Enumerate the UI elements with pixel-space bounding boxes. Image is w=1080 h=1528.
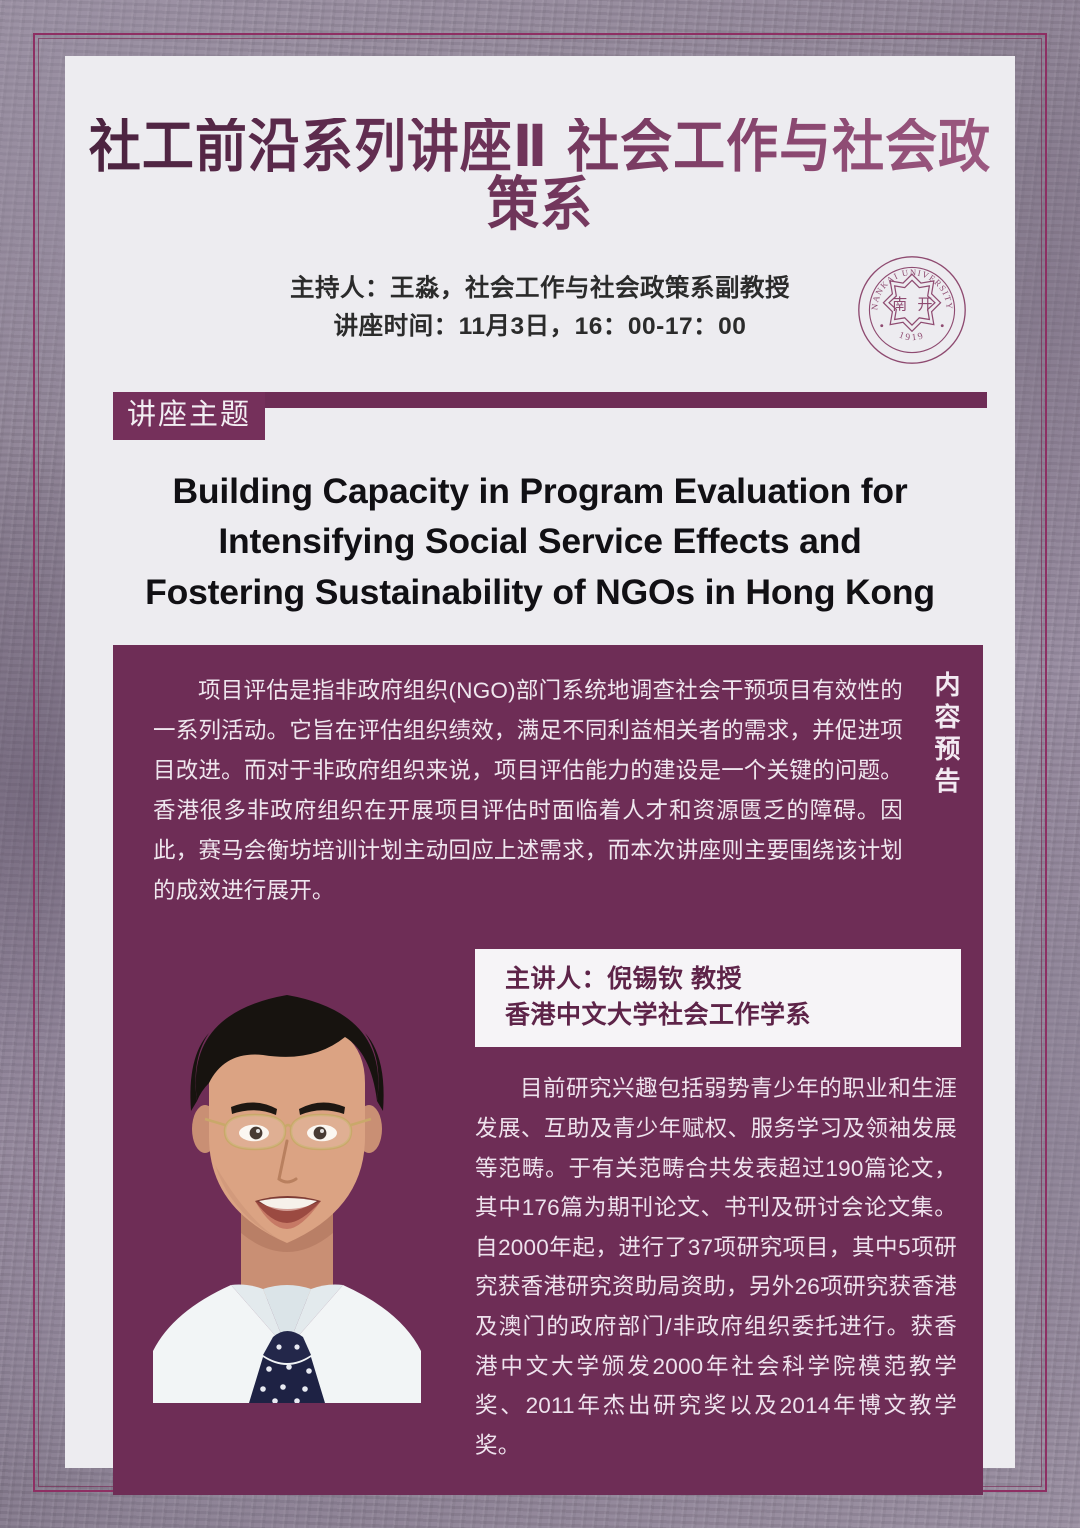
speaker-name-card: 主讲人：倪锡钦 教授 香港中文大学社会工作学系	[475, 949, 961, 1047]
time-line: 讲座时间：11月3日，16：00-17：00	[105, 308, 975, 346]
abstract-panel: 项目评估是指非政府组织(NGO)部门系统地调查社会干预项目有效性的一系列活动。它…	[113, 645, 983, 933]
lecture-title-line-3: Fostering Sustainability of NGOs in Hong…	[99, 567, 981, 617]
speaker-portrait-image	[113, 933, 461, 1403]
abstract-body: 项目评估是指非政府组织(NGO)部门系统地调查社会干预项目有效性的一系列活动。它…	[113, 671, 921, 911]
topic-section-header: 讲座主题	[113, 392, 987, 442]
page-title: 社工前沿系列讲座Ⅱ 社会工作与社会政策系	[65, 118, 1015, 234]
seal-year-text: 1919	[897, 331, 926, 344]
topic-tab-label: 讲座主题	[113, 392, 265, 440]
speaker-name: 主讲人：倪锡钦 教授	[505, 962, 961, 998]
seal-emblem-char-kai: 开	[917, 295, 932, 313]
speaker-affiliation: 香港中文大学社会工作学系	[505, 998, 961, 1034]
speaker-details: 主讲人：倪锡钦 教授 香港中文大学社会工作学系 目前研究兴趣包括弱势青少年的职业…	[461, 933, 983, 1465]
lecture-title: Building Capacity in Program Evaluation …	[99, 466, 981, 617]
meta-block: 主持人：王淼，社会工作与社会政策系副教授 讲座时间：11月3日，16：00-17…	[65, 270, 1015, 346]
lecture-title-line-1: Building Capacity in Program Evaluation …	[99, 466, 981, 516]
abstract-side-label: 内容预告	[921, 671, 983, 911]
speaker-panel: 主讲人：倪锡钦 教授 香港中文大学社会工作学系 目前研究兴趣包括弱势青少年的职业…	[113, 933, 983, 1495]
poster-root: 社工前沿系列讲座Ⅱ 社会工作与社会政策系 主持人：王淼，社会工作与社会政策系副教…	[0, 0, 1080, 1528]
host-line: 主持人：王淼，社会工作与社会政策系副教授	[105, 270, 975, 308]
meta-lines: 主持人：王淼，社会工作与社会政策系副教授 讲座时间：11月3日，16：00-17…	[105, 270, 975, 346]
seal-emblem-char-nan: 南	[892, 295, 907, 313]
speaker-photo	[113, 933, 461, 1465]
content-card: 社工前沿系列讲座Ⅱ 社会工作与社会政策系 主持人：王淼，社会工作与社会政策系副教…	[65, 56, 1015, 1468]
nankai-university-seal-icon: NANKAI UNIVERSITY 1919 南 开	[856, 254, 968, 366]
speaker-bio: 目前研究兴趣包括弱势青少年的职业和生涯发展、互助及青少年赋权、服务学习及领袖发展…	[475, 1069, 961, 1465]
lecture-title-line-2: Intensifying Social Service Effects and	[99, 516, 981, 566]
svg-text:1919: 1919	[897, 331, 926, 344]
